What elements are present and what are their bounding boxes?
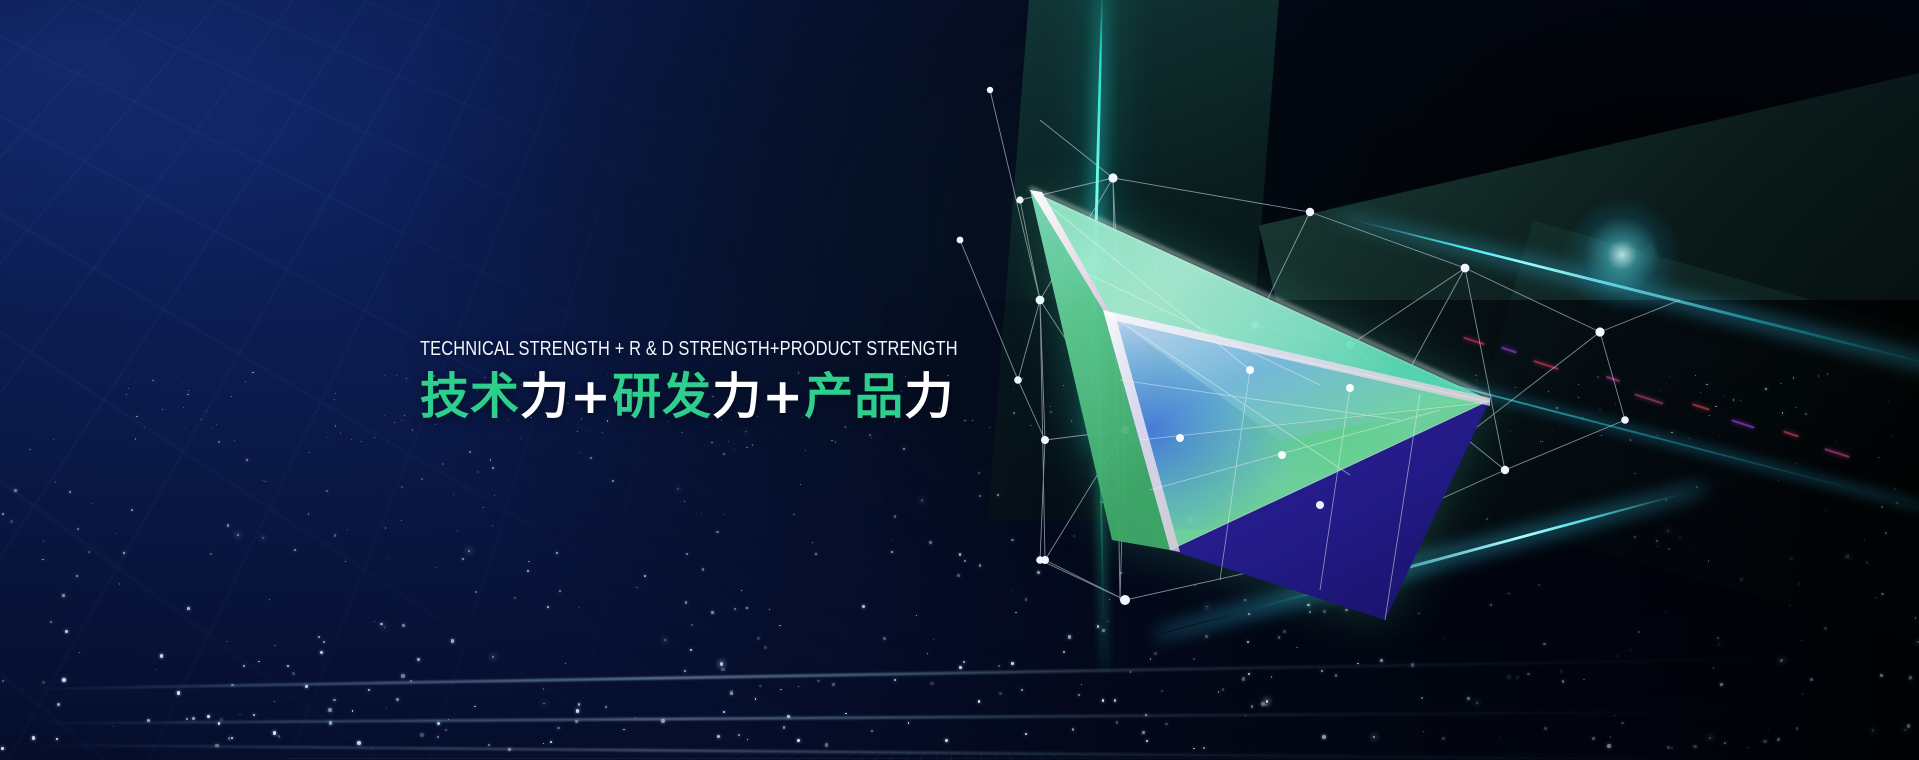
title-segment-0: 技术 [420, 368, 520, 425]
headline-eyebrow: TECHNICAL STRENGTH + R & D STRENGTH+PROD… [420, 338, 948, 361]
title-segment-1: 力 [520, 368, 570, 425]
title-segment-5: + [762, 368, 804, 425]
hero-banner: TECHNICAL STRENGTH + R & D STRENGTH+PROD… [0, 0, 1919, 760]
title-segment-3: 研发 [612, 368, 712, 425]
title-segment-4: 力 [712, 368, 762, 425]
headline-main-title: 技术力+研发力+产品力 [420, 370, 1080, 425]
title-segment-7: 力 [904, 368, 954, 425]
headline-block: TECHNICAL STRENGTH + R & D STRENGTH+PROD… [420, 338, 1080, 424]
arrow-polyhedron-graphic [1020, 120, 1720, 680]
title-segment-6: 产品 [804, 368, 904, 425]
title-segment-2: + [570, 368, 612, 425]
